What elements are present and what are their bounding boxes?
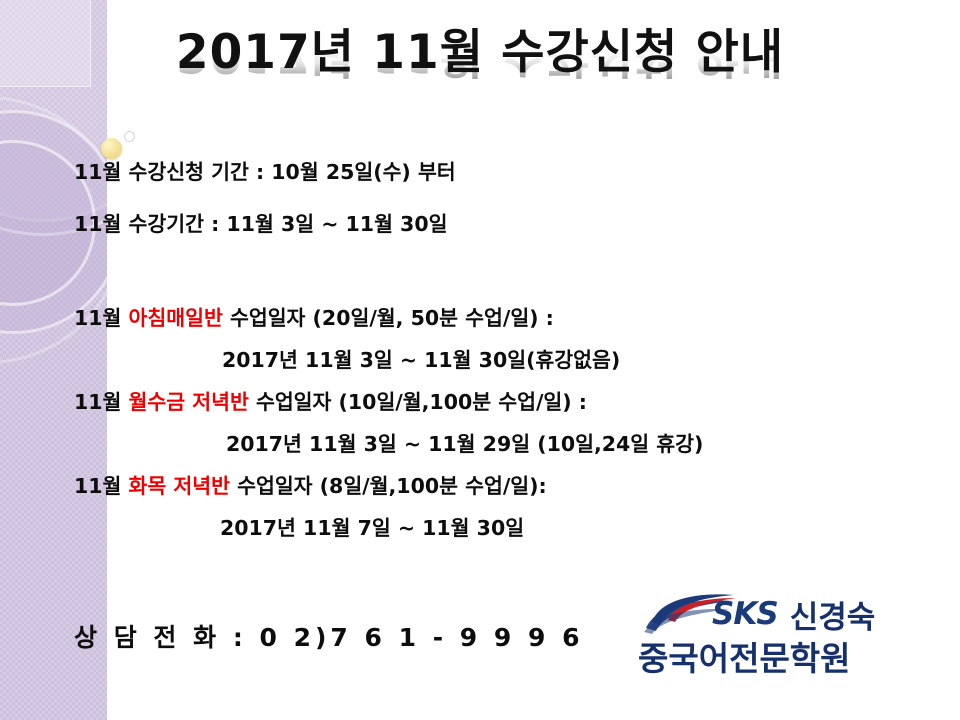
- academy-logo: SKS 신경숙 중국어전문학원 중국어전문학원: [638, 592, 938, 710]
- body-text-block: 11월 수강신청 기간 : 10월 25일(수) 부터 11월 수강기간 : 1…: [74, 155, 934, 541]
- mwf-evening-class-line: 11월 월수금 저녁반 수업일자 (10일/월,100분 수업/일) :: [74, 385, 934, 415]
- logo-name: 신경숙: [790, 592, 876, 637]
- course-period-line: 11월 수강기간 : 11월 3일 ~ 11월 30일: [74, 207, 934, 237]
- morning-class-dates: 2017년 11월 3일 ~ 11월 30일(휴강없음): [74, 343, 934, 373]
- morning-class-line: 11월 아침매일반 수업일자 (20일/월, 50분 수업/일) :: [74, 301, 934, 331]
- slide-canvas: 2017년 11월 수강신청 안내 2017년 11월 수강신청 안내 11월 …: [0, 0, 960, 720]
- tt-evening-class-dates: 2017년 11월 7일 ~ 11월 30일: [74, 511, 934, 541]
- tt-evening-class-line: 11월 화목 저녁반 수업일자 (8일/월,100분 수업/일):: [74, 469, 934, 499]
- small-ring-icon: [124, 131, 135, 142]
- tt-evening-class-name: 화목 저녁반: [129, 474, 230, 498]
- page-title-reflection: 2017년 11월 수강신청 안내: [0, 37, 960, 79]
- mwf-evening-class-name: 월수금 저녁반: [129, 390, 249, 414]
- mwf-evening-class-dates: 2017년 11월 3일 ~ 11월 29일 (10일,24일 휴강): [74, 427, 934, 457]
- logo-subtitle-reflection: 중국어전문학원: [638, 646, 851, 672]
- morning-class-suffix: 수업일자 (20일/월, 50분 수업/일) :: [223, 306, 554, 330]
- morning-class-name: 아침매일반: [129, 306, 223, 330]
- registration-period-line: 11월 수강신청 기간 : 10월 25일(수) 부터: [74, 155, 934, 185]
- logo-top-row: SKS 신경숙: [638, 592, 875, 636]
- mwf-evening-class-prefix: 11월: [74, 390, 129, 414]
- mwf-evening-class-suffix: 수업일자 (10일/월,100분 수업/일) :: [249, 390, 587, 414]
- logo-abbreviation: SKS: [712, 596, 778, 632]
- contact-phone-line: 상 담 전 화 : 0 2)7 6 1 - 9 9 9 6: [74, 618, 584, 654]
- morning-class-prefix: 11월: [74, 306, 129, 330]
- title-block: 2017년 11월 수강신청 안내 2017년 11월 수강신청 안내: [0, 28, 960, 121]
- tt-evening-class-suffix: 수업일자 (8일/월,100분 수업/일):: [230, 474, 547, 498]
- tt-evening-class-prefix: 11월: [74, 474, 129, 498]
